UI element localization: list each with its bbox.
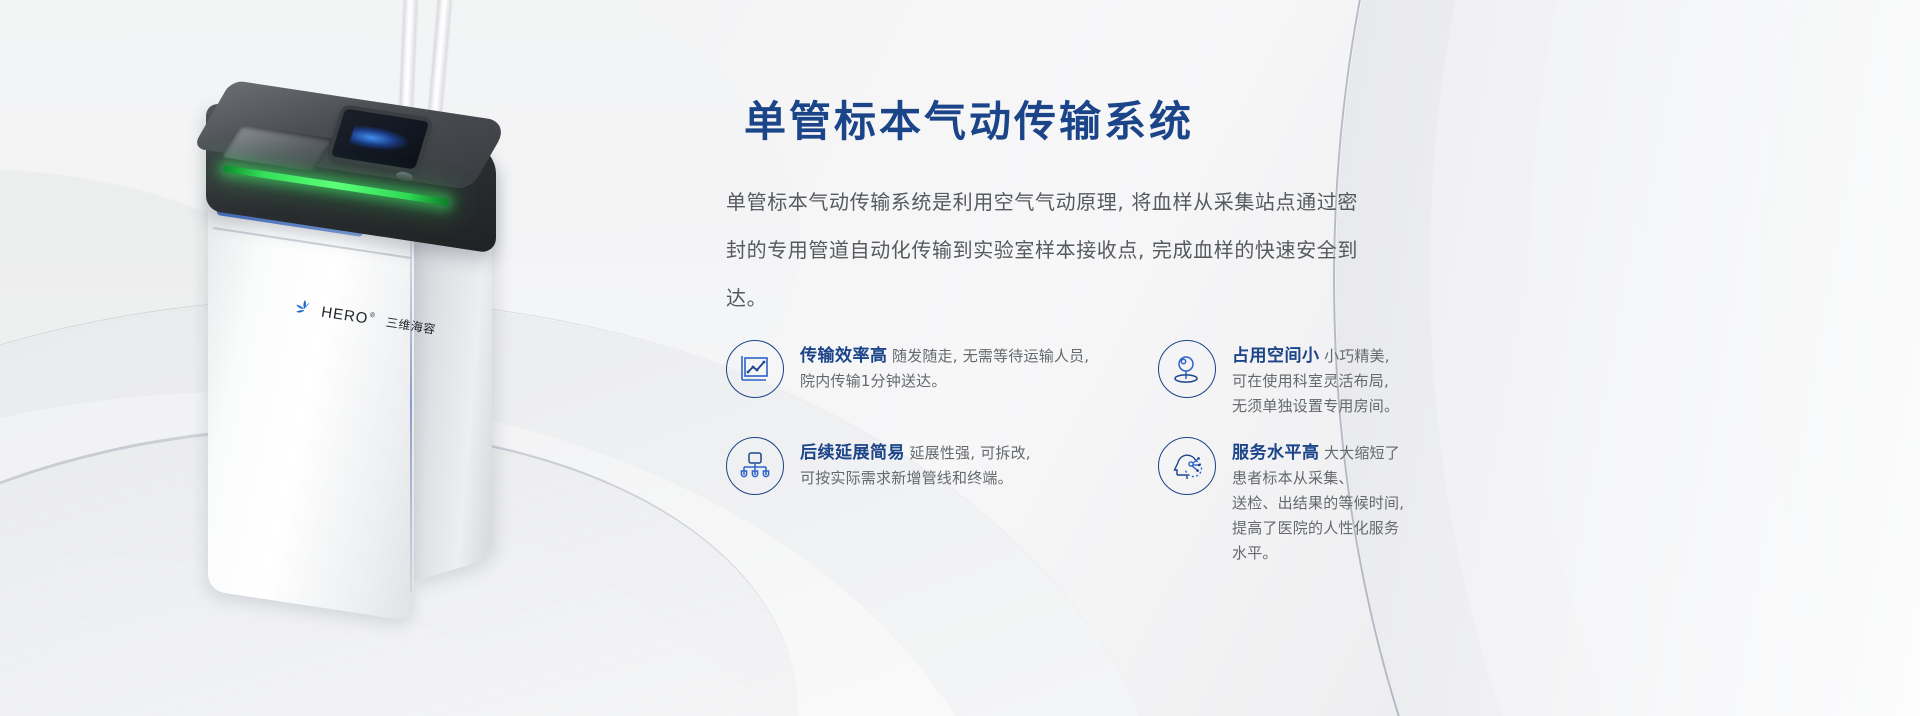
feature-list: 传输效率高 随发随走, 无需等待运输人员, 院内传输1分钟送达。 占用空间小 小…: [726, 340, 1406, 566]
banner-stage: HERO ® 三维海容 单管标本气动传输系统 单管标本气动传输系统是利用空气气动…: [0, 0, 1920, 716]
page-title: 单管标本气动传输系统: [744, 88, 1194, 149]
feature-text: 服务水平高 大大缩短了患者标本从采集、 送检、出结果的等候时间, 提高了医院的人…: [1232, 437, 1406, 566]
screen-logo-glow: [349, 124, 411, 154]
feature-text: 后续延展简易 延展性强, 可拆改, 可按实际需求新增管线和终端。: [800, 437, 1031, 491]
head-ai-icon: [1158, 437, 1216, 495]
page-description: 单管标本气动传输系统是利用空气气动原理, 将血样从采集站点通过密封的专用管道自动…: [726, 178, 1376, 322]
brand-chinese-name: 三维海容: [385, 313, 437, 337]
brand-registered-mark: ®: [369, 311, 376, 319]
feature-item-space-saving: 占用空间小 小巧精美, 可在使用科室灵活布局, 无须单独设置专用房间。: [1158, 340, 1406, 419]
feature-item-easy-extension: 后续延展简易 延展性强, 可拆改, 可按实际需求新增管线和终端。: [726, 437, 1158, 566]
location-pin-icon: [1158, 340, 1216, 398]
feature-title: 传输效率高: [800, 346, 888, 366]
device-edge-seam: [410, 214, 412, 592]
device-brand-name: HERO ®: [320, 303, 376, 328]
feature-item-service-level: 服务水平高 大大缩短了患者标本从采集、 送检、出结果的等候时间, 提高了医院的人…: [1158, 437, 1406, 566]
network-tree-icon: [726, 437, 784, 495]
feature-title: 占用空间小: [1232, 346, 1320, 366]
brand-text: HERO: [320, 303, 369, 327]
feature-text: 传输效率高 随发随走, 无需等待运输人员, 院内传输1分钟送达。: [800, 340, 1089, 394]
feature-title: 服务水平高: [1232, 443, 1320, 463]
feature-text: 占用空间小 小巧精美, 可在使用科室灵活布局, 无须单独设置专用房间。: [1232, 340, 1406, 419]
banner-content: 单管标本气动传输系统 单管标本气动传输系统是利用空气气动原理, 将血样从采集站点…: [726, 0, 1916, 716]
device-body-front: [208, 190, 414, 621]
product-device-image: HERO ® 三维海容: [168, 94, 528, 614]
chart-line-icon: [726, 340, 784, 398]
hero-leaf-icon: [291, 295, 318, 322]
feature-item-transmission-efficiency: 传输效率高 随发随走, 无需等待运输人员, 院内传输1分钟送达。: [726, 340, 1158, 419]
feature-title: 后续延展简易: [800, 443, 905, 463]
